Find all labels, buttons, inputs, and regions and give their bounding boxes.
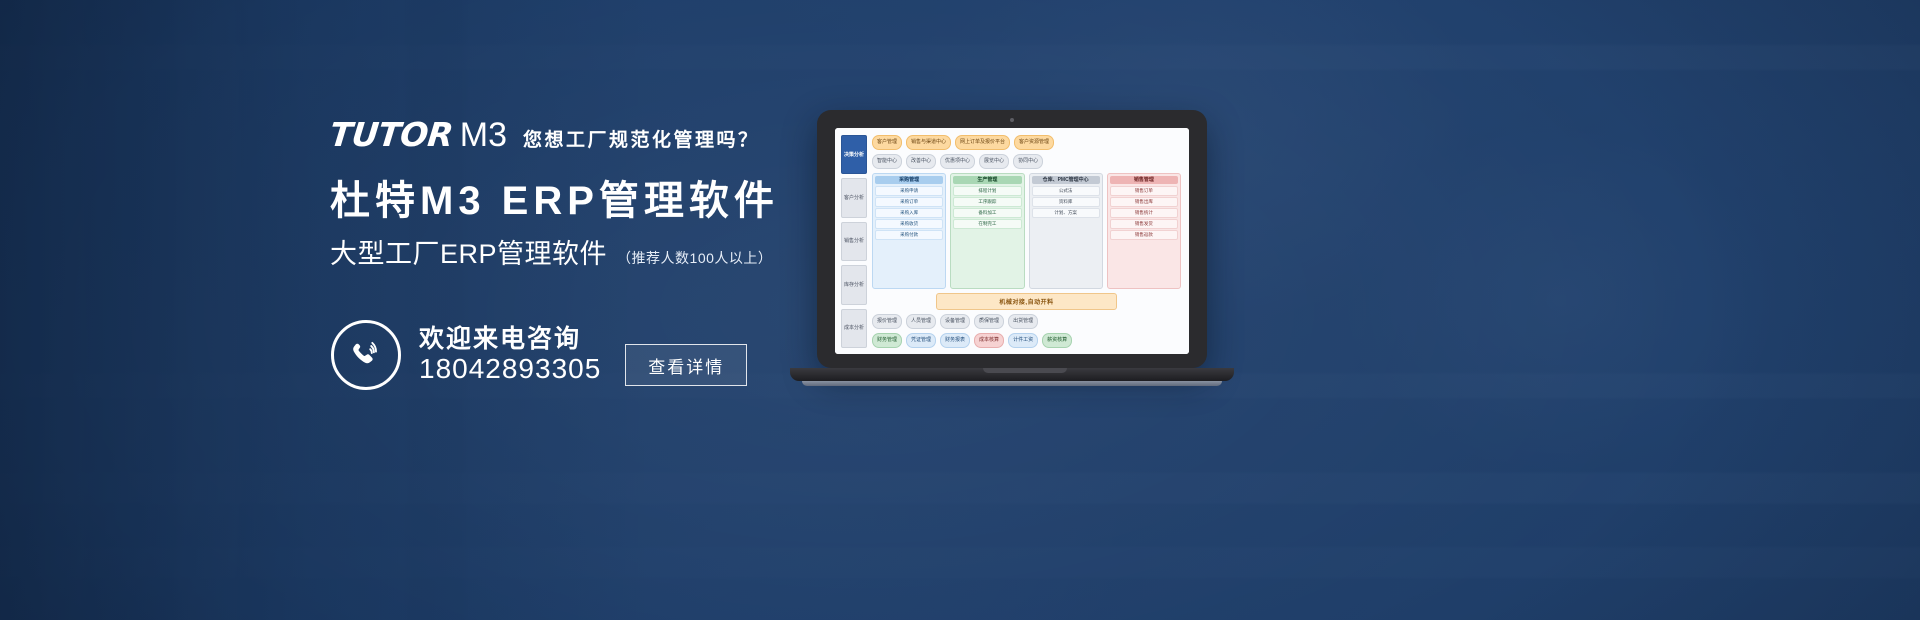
erp-chip: 凭证管理 [906, 333, 936, 348]
hero-subline: 大型工厂ERP管理软件 （推荐人数100人以上） [330, 241, 1030, 268]
phone-call-icon[interactable] [331, 320, 401, 390]
laptop-notch [983, 368, 1067, 373]
erp-panel-item: 销售发货 [1110, 219, 1178, 229]
contact-phone-number[interactable]: 18042893305 [419, 353, 601, 384]
erp-panel-title: 仓库、PMC管理中心 [1032, 176, 1100, 184]
hero-tagline: 您想工厂规范化管理吗？ [523, 131, 760, 150]
erp-row-spacer [1047, 154, 1181, 169]
brand-logo-tutor: TUTOR [328, 118, 454, 151]
erp-panel-item: 销售订单 [1110, 186, 1178, 196]
erp-panel-items: 公式法 资料库 计划、方案 [1032, 186, 1100, 286]
brand-logo-m3: M3 [460, 118, 507, 152]
erp-panel-title: 销售管理 [1110, 176, 1178, 184]
view-details-button[interactable]: 查看详情 [625, 344, 747, 386]
erp-chip: 计件工资 [1008, 333, 1038, 348]
erp-panel-pmc: 仓库、PMC管理中心 公式法 资料库 计划、方案 [1029, 173, 1103, 289]
erp-chip: 财务报表 [940, 333, 970, 348]
erp-chip: 设备管理 [940, 314, 970, 329]
phone-text-block: 欢迎来电咨询 18042893305 [419, 325, 601, 384]
hero-subline-main: 大型工厂ERP管理软件 [330, 241, 607, 268]
laptop-foot [802, 381, 1222, 386]
erp-chip: 人员管理 [906, 314, 936, 329]
hero-copy: TUTOR M3 您想工厂规范化管理吗？ 杜特M3 ERP管理软件 大型工厂ER… [330, 118, 1030, 268]
contact-row: 欢迎来电咨询 18042893305 查看详情 [331, 320, 747, 390]
erp-row-operations: 报价管理 人员管理 设备管理 质保管理 出货管理 [872, 314, 1181, 329]
brand-row: TUTOR M3 您想工厂规范化管理吗？ [330, 118, 1030, 158]
erp-chip: 质保管理 [974, 314, 1004, 329]
erp-chip: 出货管理 [1008, 314, 1038, 329]
erp-row-spacer [1121, 293, 1181, 310]
hero-banner: TUTOR M3 您想工厂规范化管理吗？ 杜特M3 ERP管理软件 大型工厂ER… [0, 0, 1920, 620]
erp-chip: 成本核算 [974, 333, 1004, 348]
erp-panel-item: 销售出库 [1110, 197, 1178, 207]
erp-row-spacer [872, 293, 932, 310]
contact-label: 欢迎来电咨询 [419, 325, 601, 353]
erp-row-highlight: 机械对接,自动开料 [872, 293, 1181, 310]
erp-chip: 报价管理 [872, 314, 902, 329]
erp-panel-item: 销售统计 [1110, 208, 1178, 218]
erp-rail-item: 成本分析 [841, 309, 867, 348]
erp-chip: 财务管理 [872, 333, 902, 348]
erp-panel-item: 资料库 [1032, 197, 1100, 207]
erp-panel-item: 销售返款 [1110, 230, 1178, 240]
erp-row-spacer [1058, 135, 1181, 150]
erp-row-spacer [1076, 333, 1181, 348]
hero-headline: 杜特M3 ERP管理软件 [330, 179, 1030, 224]
erp-panel-sales: 销售管理 销售订单 销售出库 销售统计 销售发货 销售返款 [1107, 173, 1181, 289]
erp-highlight-strip: 机械对接,自动开料 [936, 293, 1117, 310]
erp-chip: 薪资核算 [1042, 333, 1072, 348]
erp-row-spacer [1042, 314, 1181, 329]
erp-panel-item: 公式法 [1032, 186, 1100, 196]
erp-panel-item: 计划、方案 [1032, 208, 1100, 218]
erp-panel-items: 销售订单 销售出库 销售统计 销售发货 销售返款 [1110, 186, 1178, 286]
hero-subline-note: （推荐人数100人以上） [617, 251, 772, 265]
erp-rail-item: 库存分析 [841, 265, 867, 304]
erp-row-finance: 财务管理 凭证管理 财务报表 成本核算 计件工资 薪资核算 [872, 333, 1181, 348]
